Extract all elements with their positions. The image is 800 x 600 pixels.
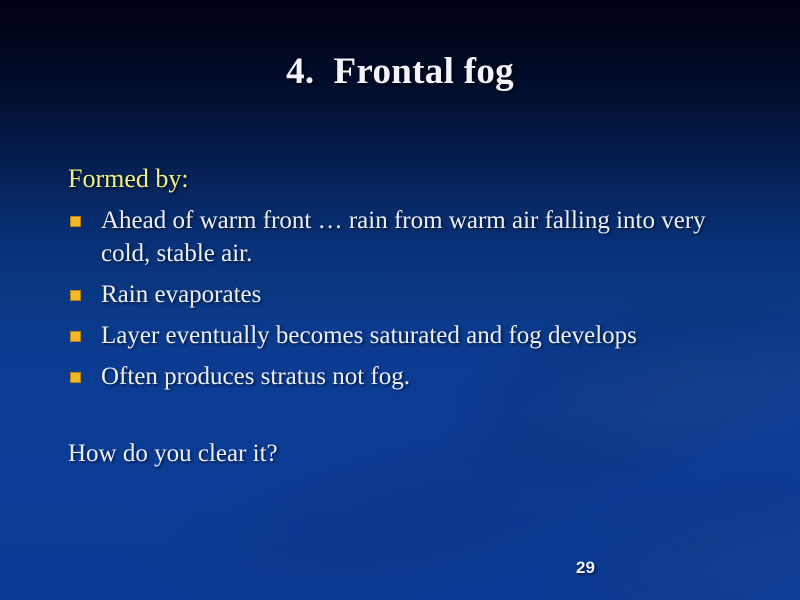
bullet-item: Layer eventually becomes saturated and f… <box>68 319 748 352</box>
square-bullet-icon <box>70 331 81 342</box>
lead-in-text: Formed by: <box>68 162 748 196</box>
bullet-item-label: Layer eventually becomes saturated and f… <box>101 319 748 352</box>
bullet-item: Ahead of warm front … rain from warm air… <box>68 204 748 270</box>
presentation-slide: 4. Frontal fog Formed by: Ahead of warm … <box>0 0 800 600</box>
bullet-item: Often produces stratus not fog. <box>68 360 748 393</box>
slide-body: Formed by: Ahead of warm front … rain fr… <box>68 162 748 470</box>
square-bullet-icon <box>70 290 81 301</box>
bullet-item-label: Often produces stratus not fog. <box>101 360 748 393</box>
square-bullet-icon <box>70 372 81 383</box>
slide-title: 4. Frontal fog <box>0 50 800 93</box>
closing-question: How do you clear it? <box>68 437 748 470</box>
bullet-item: Rain evaporates <box>68 278 748 311</box>
bullet-item-label: Ahead of warm front … rain from warm air… <box>101 204 748 270</box>
bullet-item-label: Rain evaporates <box>101 278 748 311</box>
background-swirl-decoration <box>593 480 800 600</box>
square-bullet-icon <box>70 216 81 227</box>
body-spacer <box>68 401 748 437</box>
page-number: 29 <box>576 558 595 578</box>
